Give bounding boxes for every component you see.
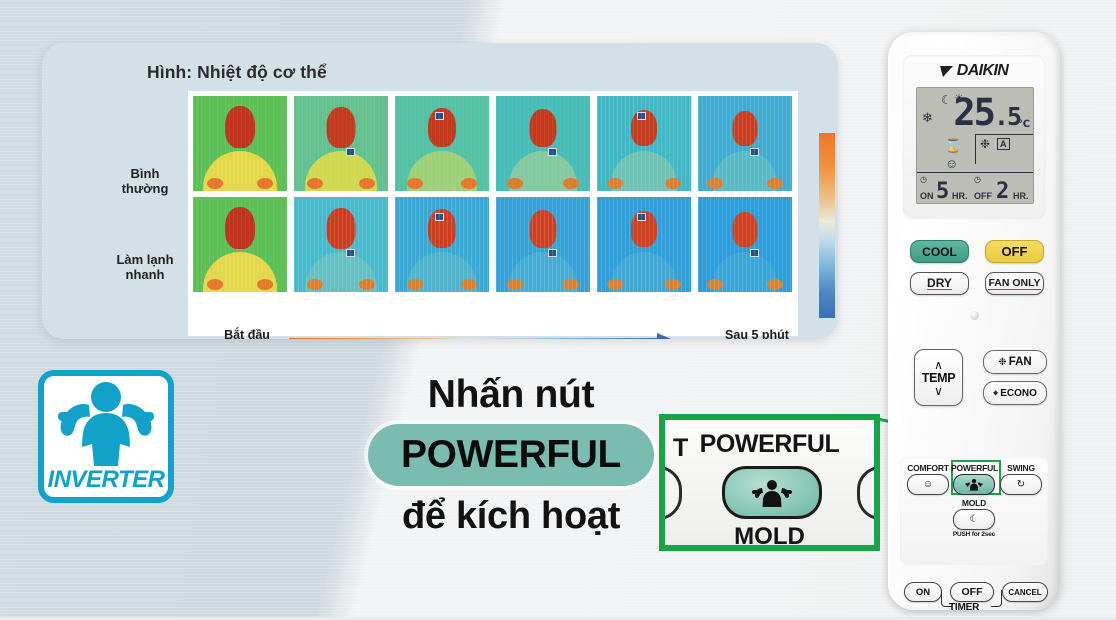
thermal-image xyxy=(597,96,691,191)
chevron-down-icon: ∨ xyxy=(934,386,943,396)
row-label-fastcool: Làm lạnh nhanh xyxy=(100,252,190,282)
row-label-normal-line2: thường xyxy=(100,181,190,196)
cta-line-2: để kích hoạt xyxy=(366,494,656,538)
card-title: Hình: Nhiệt độ cơ thể xyxy=(147,62,327,83)
thermal-image xyxy=(395,96,489,191)
comfort-icon: ☺ xyxy=(945,156,958,171)
swing-label: SWING xyxy=(999,463,1043,473)
thermal-image xyxy=(294,197,388,292)
fan-button-label: FAN xyxy=(1009,356,1032,368)
timer-on-button[interactable]: ON xyxy=(904,582,942,602)
daikin-remote-control: DAIKIN ❄ ☾ ☀ 25.5 ℃ ❉ A ⌛ ☺ ◷ ON 5 HR. ◷… xyxy=(888,32,1060,610)
temp-button-label: TEMP xyxy=(922,371,956,385)
thermal-scanline-overlay xyxy=(395,96,489,191)
mold-icon: ☾ xyxy=(941,93,952,107)
snowflake-icon: ❄ xyxy=(922,110,933,126)
remote-screen-bezel: DAIKIN ❄ ☾ ☀ 25.5 ℃ ❉ A ⌛ ☺ ◷ ON 5 HR. ◷… xyxy=(903,55,1045,218)
swing-button-group[interactable]: SWING ↻ xyxy=(999,463,1043,495)
lcd-timer-off-value: 2 xyxy=(996,181,1009,203)
timer-group-label: TIMER xyxy=(949,602,979,613)
thermal-image xyxy=(496,197,590,292)
thermal-scanline-overlay xyxy=(496,197,590,292)
powerful-button-callout: T POWERFUL MOLD xyxy=(659,414,880,551)
cta-powerful-pill: POWERFUL xyxy=(368,424,654,486)
econo-button[interactable]: ⌖ ECONO xyxy=(983,381,1047,405)
thermal-image xyxy=(395,197,489,292)
daikin-swoosh-icon xyxy=(940,65,955,78)
swing-button[interactable]: ↻ xyxy=(1000,474,1042,495)
mold-button-group[interactable]: MOLD ☾ PUSH for 2sec xyxy=(951,498,997,538)
muscle-figure-icon xyxy=(752,478,792,508)
fan-button[interactable]: ❉ FAN xyxy=(983,350,1047,374)
mold-button[interactable]: ☾ xyxy=(953,509,995,530)
lcd-fan-mode: A xyxy=(997,138,1010,150)
thermal-comparison-card: Hình: Nhiệt độ cơ thể Bình thường Làm lạ… xyxy=(42,43,838,339)
comfort-person-icon: ☺ xyxy=(923,479,933,490)
timeline-arrow-body xyxy=(289,338,661,339)
thermal-row-normal xyxy=(193,96,792,191)
callout-neighbor-left-button xyxy=(659,466,682,520)
timer-cancel-button[interactable]: CANCEL xyxy=(1002,582,1048,602)
swing-arrow-icon: ↻ xyxy=(1017,479,1025,490)
chevron-up-icon: ∧ xyxy=(934,360,943,370)
swing-icon: ⌛ xyxy=(945,138,961,154)
comfort-button[interactable]: ☺ xyxy=(907,474,949,495)
comfort-label: COMFORT xyxy=(905,463,951,473)
remote-function-panel: COMFORT ☺ POWERFUL xyxy=(900,457,1048,565)
daikin-brand-text: DAIKIN xyxy=(957,62,1009,80)
callout-subtitle: MOLD xyxy=(665,523,874,551)
callout-inner: T POWERFUL MOLD xyxy=(665,420,874,545)
call-to-action: Nhấn nút POWERFUL để kích hoạt xyxy=(366,372,656,538)
econo-leaf-icon: ⌖ xyxy=(993,388,998,399)
clock-icon-on: ◷ xyxy=(920,175,927,184)
thermal-scanline-overlay xyxy=(395,197,489,292)
inverter-logo: INVERTER xyxy=(38,370,174,503)
mold-push-note: PUSH for 2sec xyxy=(951,531,997,538)
thermal-image xyxy=(193,197,287,292)
fan-icon: ❉ xyxy=(998,357,1006,368)
timeline-start-label: Bắt đầu hoạt động xyxy=(192,328,302,339)
lcd-temperature: 25.5 xyxy=(953,96,1020,134)
thermal-image xyxy=(597,197,691,292)
cta-powerful-label: POWERFUL xyxy=(401,433,621,477)
callout-title: POWERFUL xyxy=(665,430,874,459)
thermal-image xyxy=(698,197,792,292)
row-label-normal: Bình thường xyxy=(100,166,190,196)
thermal-image xyxy=(698,96,792,191)
remote-lcd-display: ❄ ☾ ☀ 25.5 ℃ ❉ A ⌛ ☺ ◷ ON 5 HR. ◷ OFF 2 … xyxy=(916,87,1034,204)
clock-icon-off: ◷ xyxy=(974,175,981,184)
timeline-start-line1: Bắt đầu xyxy=(192,328,302,339)
thermal-scanline-overlay xyxy=(698,96,792,191)
fan-icon: ❉ xyxy=(980,137,990,151)
thermal-scanline-overlay xyxy=(294,96,388,191)
row-label-fastcool-line2: nhanh xyxy=(100,267,190,282)
thermal-image xyxy=(294,96,388,191)
thermal-scanline-overlay xyxy=(193,96,287,191)
dry-button[interactable]: DRY xyxy=(910,272,969,295)
thermal-image xyxy=(496,96,590,191)
lcd-timer-on-value: 5 xyxy=(936,181,949,203)
lcd-timer-bar: ◷ ON 5 HR. ◷ OFF 2 HR. xyxy=(917,172,1033,203)
thermal-row-fastcool xyxy=(193,197,792,292)
thermal-scanline-overlay xyxy=(597,96,691,191)
inverter-label: INVERTER xyxy=(38,466,174,494)
timer-button-row: ON OFF CANCEL TIMER xyxy=(902,580,1048,620)
mold-label: MOLD xyxy=(951,498,997,508)
lcd-temp-dec: .5 xyxy=(994,102,1020,131)
muscle-figure-icon xyxy=(965,478,983,491)
remote-indicator-dot xyxy=(970,311,979,320)
econo-button-label: ECONO xyxy=(1000,388,1037,399)
lcd-timer-off-label: OFF xyxy=(974,191,992,201)
cool-button[interactable]: COOL xyxy=(910,240,969,263)
thermal-image xyxy=(193,96,287,191)
timeline-end-line1: Sau 5 phút xyxy=(697,328,817,339)
mold-icon: ☾ xyxy=(970,514,979,525)
dry-button-label: DRY xyxy=(927,278,952,290)
row-label-normal-line1: Bình xyxy=(100,166,190,181)
temp-button[interactable]: ∧ TEMP ∨ xyxy=(914,349,963,406)
lcd-timer-on-unit: HR. xyxy=(952,191,968,201)
timeline-end-label: Sau 5 phút hoạt động xyxy=(697,328,817,339)
off-button[interactable]: OFF xyxy=(985,240,1044,263)
lcd-divider-vertical xyxy=(975,134,976,164)
thermal-image-panel xyxy=(188,91,798,336)
thermal-scanline-overlay xyxy=(698,197,792,292)
lcd-timer-off-unit: HR. xyxy=(1013,191,1029,201)
row-label-fastcool-line1: Làm lạnh xyxy=(100,252,190,267)
temperature-scale-bar xyxy=(819,133,835,318)
comfort-button-group[interactable]: COMFORT ☺ xyxy=(905,463,951,495)
lcd-temp-int: 25 xyxy=(953,91,994,134)
lcd-timer-on-label: ON xyxy=(920,191,934,201)
powerful-label: POWERFUL xyxy=(951,463,997,473)
thermal-scanline-overlay xyxy=(597,197,691,292)
powerful-button[interactable] xyxy=(953,474,995,495)
timer-bracket-right xyxy=(991,590,1002,607)
timeline-arrow xyxy=(289,333,689,339)
powerful-button-group[interactable]: POWERFUL xyxy=(951,463,997,495)
thermal-card-inner: Hình: Nhiệt độ cơ thể Bình thường Làm lạ… xyxy=(42,43,838,339)
thermal-scanline-overlay xyxy=(193,197,287,292)
callout-neighbor-right-button xyxy=(857,466,880,520)
callout-powerful-button[interactable] xyxy=(722,466,822,519)
fan-only-button[interactable]: FAN ONLY xyxy=(985,272,1044,295)
thermal-scanline-overlay xyxy=(496,96,590,191)
fan-only-button-label: FAN ONLY xyxy=(988,278,1040,290)
thermal-scanline-overlay xyxy=(294,197,388,292)
muscle-figure-icon xyxy=(52,378,160,466)
lcd-divider-horizontal xyxy=(975,134,1033,135)
lcd-temperature-unit: ℃ xyxy=(1018,119,1030,130)
timer-off-button[interactable]: OFF xyxy=(950,582,994,602)
daikin-brand: DAIKIN xyxy=(903,62,1045,80)
cta-line-1: Nhấn nút xyxy=(366,372,656,418)
timeline-arrow-head xyxy=(657,333,683,339)
